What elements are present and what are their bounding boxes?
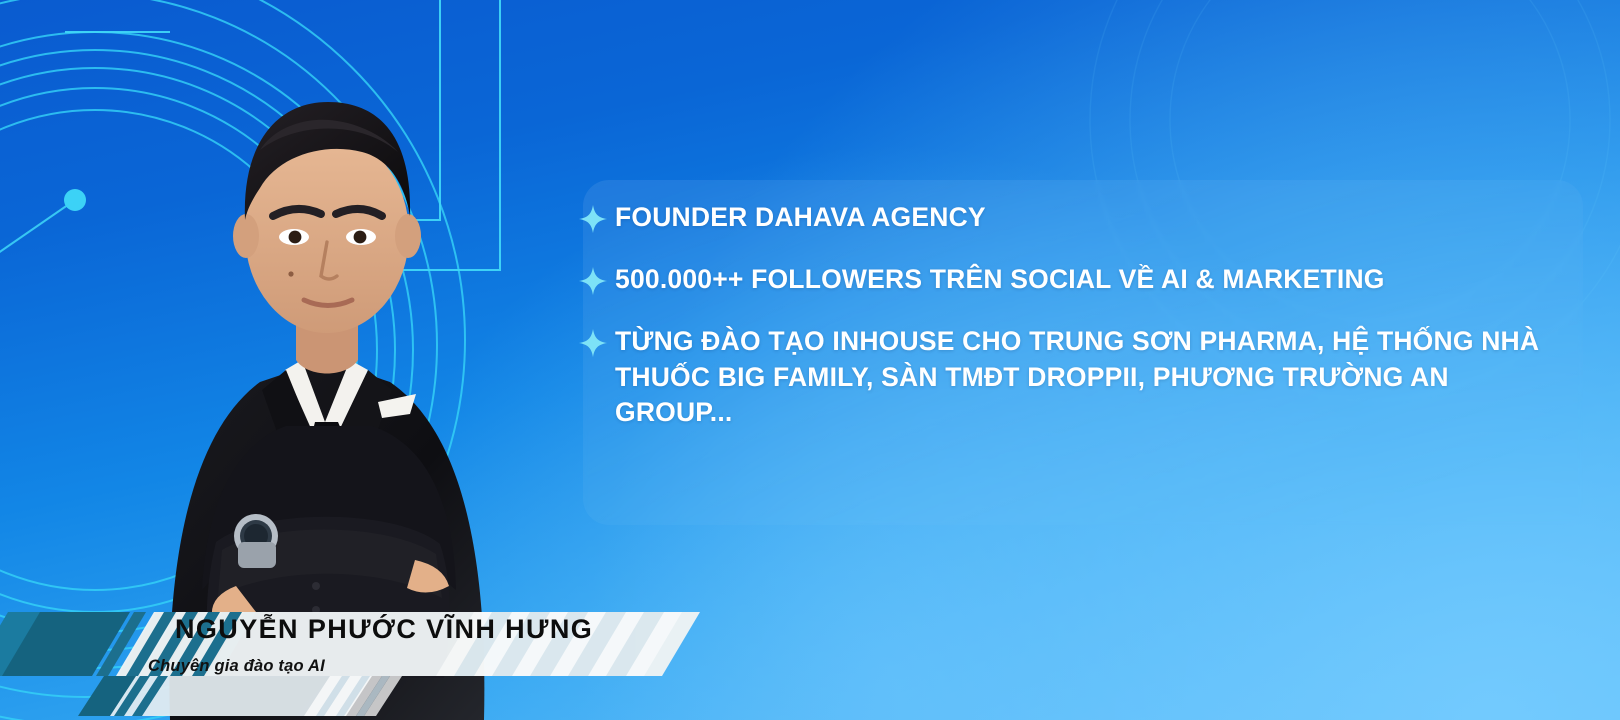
sparkle-icon	[578, 328, 608, 358]
sparkle-icon	[578, 266, 608, 296]
speaker-profile-banner: FOUNDER DAHAVA AGENCY 500.000++ FOLLOWER…	[0, 0, 1620, 720]
list-item: FOUNDER DAHAVA AGENCY	[578, 200, 1568, 235]
decorative-circuit-arcs-left	[0, 0, 640, 720]
sparkle-icon	[578, 204, 608, 234]
list-item-label: 500.000++ FOLLOWERS TRÊN SOCIAL VỀ AI & …	[615, 262, 1385, 297]
speaker-role: Chuyên gia đào tạo AI	[148, 657, 325, 676]
list-item-label: TỪNG ĐÀO TẠO INHOUSE CHO TRUNG SƠN PHARM…	[615, 324, 1568, 430]
list-item: TỪNG ĐÀO TẠO INHOUSE CHO TRUNG SƠN PHARM…	[578, 324, 1568, 430]
speaker-name: NGUYỄN PHƯỚC VĨNH HƯNG	[175, 614, 593, 645]
list-item: 500.000++ FOLLOWERS TRÊN SOCIAL VỀ AI & …	[578, 262, 1568, 297]
list-item-label: FOUNDER DAHAVA AGENCY	[615, 200, 986, 235]
credentials-list: FOUNDER DAHAVA AGENCY 500.000++ FOLLOWER…	[578, 200, 1568, 430]
